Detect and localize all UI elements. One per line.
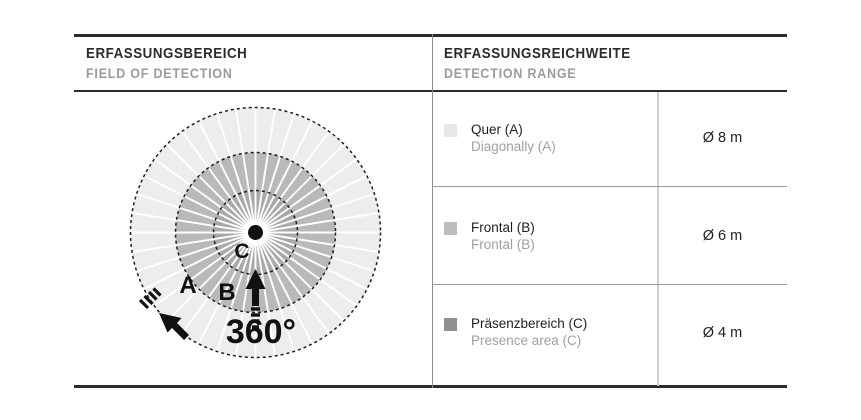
legend-label-en: Frontal (B) (471, 236, 535, 253)
right-title-de: Erfassungsreichweite (444, 46, 631, 63)
arrow-b-label: B (218, 279, 235, 306)
angle-label-360: 360° (226, 313, 296, 351)
column-divider (432, 34, 433, 388)
row-separator (432, 186, 787, 187)
legend-row: Quer (A) Diagonally (A) (444, 121, 654, 155)
left-column-header: Erfassungsbereich Field of detection (86, 46, 261, 82)
arrow-a-label: A (179, 272, 196, 299)
sensor-center-dot (248, 225, 263, 240)
legend-swatch-c (444, 318, 457, 331)
legend-text: Quer (A) Diagonally (A) (471, 121, 556, 155)
center-label-c: C (234, 240, 249, 263)
range-value-a: Ø 8 m (658, 130, 787, 146)
right-title-en: Detection range (444, 65, 631, 82)
legend-text: Frontal (B) Frontal (B) (471, 219, 535, 253)
legend-label-en: Presence area (C) (471, 332, 587, 349)
legend-label-de: Präsenzbereich (C) (471, 315, 587, 332)
right-column-header: Erfassungsreichweite Detection range (444, 46, 647, 82)
top-rule (74, 34, 787, 37)
legend-swatch-a (444, 124, 457, 137)
spec-sheet: Erfassungsbereich Field of detection Erf… (0, 0, 861, 420)
legend-label-en: Diagonally (A) (471, 138, 556, 155)
header-bottom-rule (74, 90, 787, 92)
range-value-b: Ø 6 m (658, 228, 787, 244)
bottom-rule (74, 385, 787, 388)
legend-label-de: Quer (A) (471, 121, 556, 138)
legend-row: Präsenzbereich (C) Presence area (C) (444, 315, 654, 349)
legend-label-de: Frontal (B) (471, 219, 535, 236)
legend-row: Frontal (B) Frontal (B) (444, 219, 654, 253)
row-separator (432, 284, 787, 285)
left-title-de: Erfassungsbereich (86, 46, 247, 63)
left-title-en: Field of detection (86, 65, 247, 82)
legend-text: Präsenzbereich (C) Presence area (C) (471, 315, 587, 349)
legend-swatch-b (444, 222, 457, 235)
detection-field-diagram: C B A 360° (118, 95, 393, 370)
range-value-c: Ø 4 m (658, 325, 787, 341)
